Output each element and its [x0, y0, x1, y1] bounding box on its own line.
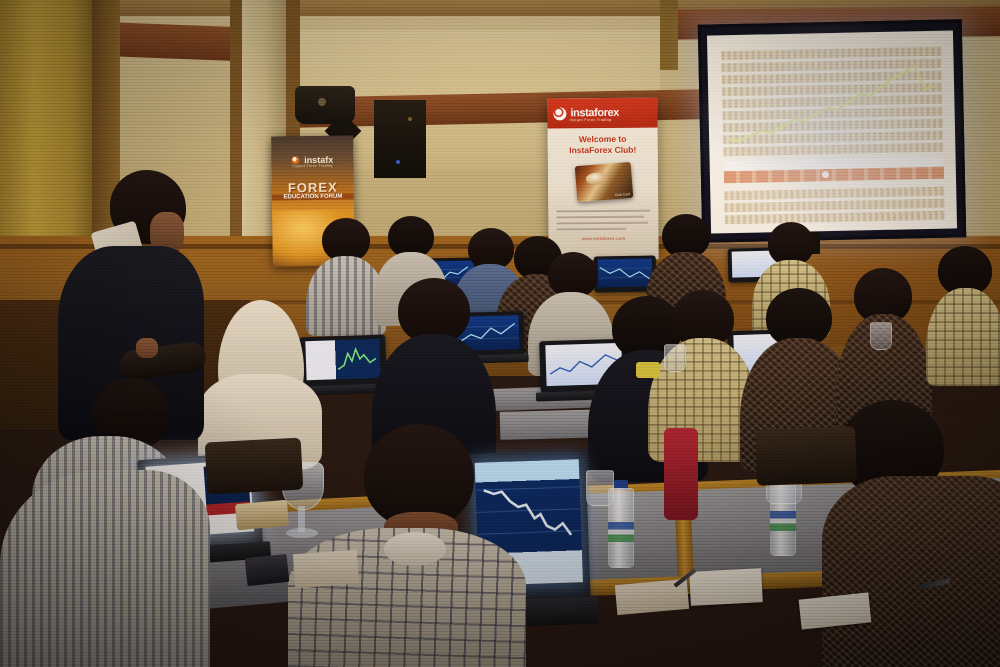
snack-box [235, 500, 289, 530]
torso [926, 288, 1000, 386]
drinking-glass-mid[interactable] [664, 344, 686, 372]
bottle-label [770, 511, 796, 531]
chair-back-red[interactable] [664, 428, 698, 520]
banner-header: instaforex Instant Forex Trading [547, 98, 658, 129]
speaker-led-icon [396, 160, 400, 164]
instaforex-logo-icon [553, 107, 566, 120]
attendee-stripe-left [0, 470, 210, 667]
projector-screen [698, 19, 967, 242]
shirt-collar [384, 532, 446, 566]
chair-right[interactable] [755, 426, 857, 485]
speaker-screw-icon [408, 117, 412, 121]
projector-screen-surface [707, 30, 957, 233]
club-card-image: Club Card [575, 162, 634, 202]
goblet-foot [286, 528, 318, 538]
banner-left-tagline: Instant Forex Trading [271, 163, 353, 168]
club-card-graphic [585, 172, 608, 186]
wall-column-right [660, 0, 678, 70]
torso [822, 476, 1000, 667]
banner-body-text [556, 210, 650, 235]
club-card-label: Club Card [615, 192, 631, 197]
yellow-cup[interactable] [636, 362, 660, 378]
seminar-room-photo: instafx Instant Forex Trading FOREX EDUC… [0, 0, 1000, 667]
notepad-right[interactable] [689, 568, 763, 606]
instructor-hand [136, 338, 158, 358]
drinking-glass-back[interactable] [870, 322, 892, 350]
chair-left[interactable] [205, 438, 304, 495]
attendee-plaid-foreground [288, 424, 526, 667]
torso [0, 470, 210, 667]
instafx-mark-icon [292, 156, 300, 164]
projected-trading-chart [721, 45, 945, 222]
napkin-left [293, 550, 359, 588]
banner-brand-tagline: Instant Forex Trading [569, 117, 611, 122]
banner-headline: Welcome to InstaForex Club! [548, 134, 658, 156]
attendee-far-right [926, 246, 1000, 386]
banner-left-subhead: EDUCATION FORUM [272, 193, 354, 200]
wall-speaker-right [374, 100, 426, 178]
speaker-cone-icon [318, 98, 326, 106]
laptop-hijab[interactable] [305, 337, 387, 388]
mobile-phone[interactable] [245, 554, 290, 586]
drinking-glass-center[interactable] [586, 470, 614, 506]
bottle-label [608, 522, 634, 543]
laptop-screen [311, 341, 381, 381]
